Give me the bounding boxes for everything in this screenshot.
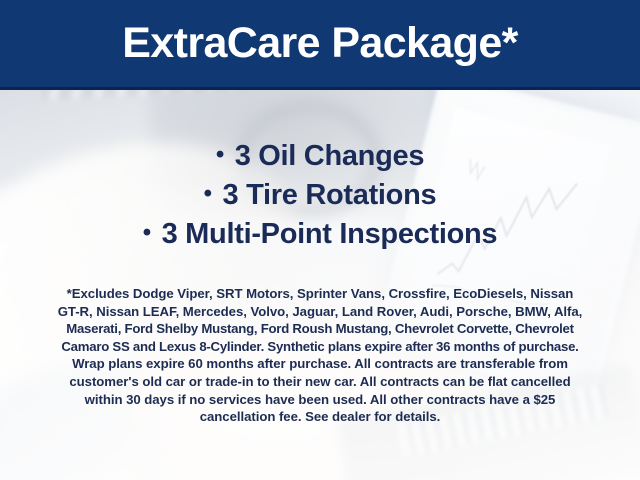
list-item: • 3 Oil Changes [0,136,640,175]
list-item: • 3 Multi-Point Inspections [0,214,640,253]
disclaimer-line: within 30 days if no services have been … [32,391,608,409]
disclaimer-line: customer's old car or trade-in to their … [32,373,608,391]
bullet-icon: • [143,219,151,246]
disclaimer-text: *Excludes Dodge Viper, SRT Motors, Sprin… [32,285,608,426]
benefit-label: 3 Oil Changes [235,140,425,172]
disclaimer-line: *Excludes Dodge Viper, SRT Motors, Sprin… [32,285,608,303]
disclaimer-line: Camaro SS and Lexus 8-Cylinder. Syntheti… [32,338,608,356]
disclaimer-line: Wrap plans expire 60 months after purcha… [32,355,608,373]
page-title: ExtraCare Package* [0,0,640,87]
benefits-list: • 3 Oil Changes • 3 Tire Rotations • 3 M… [0,136,640,253]
disclaimer-line: Maserati, Ford Shelby Mustang, Ford Rous… [32,320,608,338]
list-item: • 3 Tire Rotations [0,175,640,214]
bullet-icon: • [216,141,224,168]
benefit-label: 3 Tire Rotations [223,179,437,211]
bullet-icon: • [204,180,212,207]
header-divider [0,87,640,90]
disclaimer-line: cancellation fee. See dealer for details… [32,408,608,426]
disclaimer-line: GT-R, Nissan LEAF, Mercedes, Volvo, Jagu… [32,303,608,321]
benefit-label: 3 Multi-Point Inspections [162,218,498,250]
extracare-package-banner: ExtraCare Package* • 3 Oil Changes • 3 T… [0,0,640,480]
